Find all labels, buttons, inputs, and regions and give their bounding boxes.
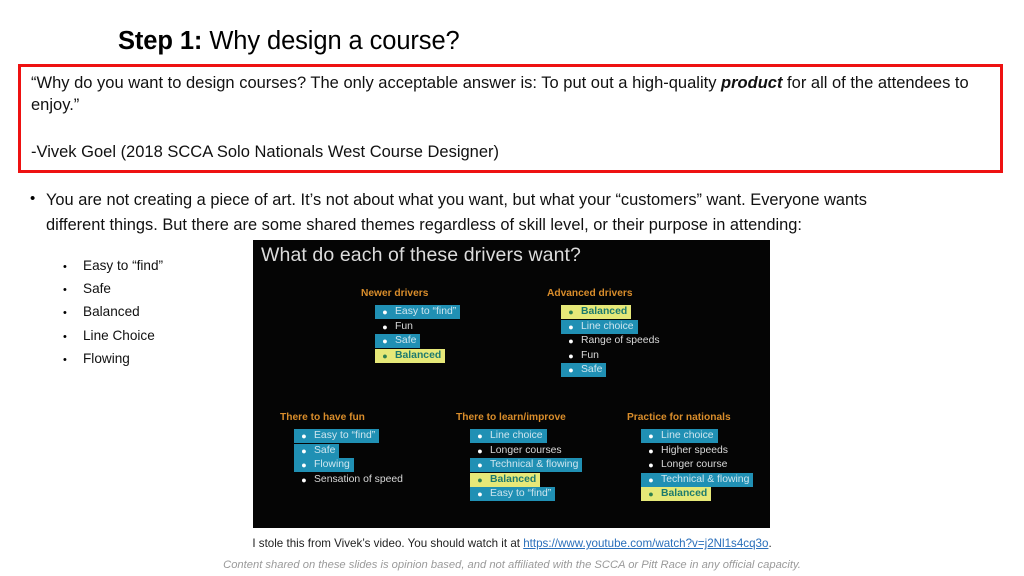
disclaimer-line: Content shared on these slides is opinio… [0, 559, 1024, 571]
drivers-item-label: Easy to “find” [395, 305, 460, 319]
drivers-bullet-icon: ● [294, 429, 314, 443]
drivers-column-advanced: Advanced drivers●Balanced●Line choice●Ra… [547, 288, 664, 378]
drivers-list-item: ●Safe [375, 334, 420, 348]
drivers-item-label: Technical & flowing [490, 458, 582, 472]
drivers-item-label: Easy to “find” [490, 487, 555, 501]
drivers-bullet-icon: ● [470, 487, 490, 501]
drivers-item-label: Flowing [314, 458, 354, 472]
drivers-item-label: Technical & flowing [661, 473, 753, 487]
sub-bullet-marker-icon: • [63, 261, 83, 273]
drivers-bullet-icon: ● [470, 444, 490, 458]
drivers-item-label: Line choice [581, 320, 638, 334]
drivers-list-item: ●Line choice [470, 429, 547, 443]
drivers-bullet-icon: ● [294, 458, 314, 472]
page-title-step: Step 1: [118, 27, 202, 55]
drivers-column-header: There to learn/improve [456, 412, 582, 423]
drivers-list-item: ●Line choice [561, 320, 638, 334]
drivers-item-label: Longer course [661, 458, 731, 472]
sub-bullet-item: •Flowing [63, 351, 263, 374]
drivers-item-label: Safe [395, 334, 420, 348]
embedded-slide-image: What do each of these drivers want? Newe… [253, 240, 770, 528]
drivers-bullet-icon: ● [294, 473, 314, 487]
quote-attribution: -Vivek Goel (2018 SCCA Solo Nationals We… [31, 142, 990, 163]
drivers-list-item: ●Balanced [641, 487, 711, 501]
drivers-list-item: ●Longer courses [470, 444, 566, 458]
drivers-bullet-icon: ● [375, 305, 395, 319]
page-title: Step 1: Why design a course? [118, 27, 460, 55]
drivers-list-item: ●Balanced [561, 305, 631, 319]
quote-box: “Why do you want to design courses? The … [18, 64, 1003, 173]
sub-bullet-label: Balanced [83, 304, 140, 320]
main-bullet: • You are not creating a piece of art. I… [30, 188, 910, 238]
drivers-item-label: Line choice [661, 429, 718, 443]
drivers-list-item: ●Safe [294, 444, 339, 458]
drivers-column-learn-improve: There to learn/improve●Line choice●Longe… [456, 412, 582, 502]
credit-text-post: . [768, 537, 771, 550]
sub-bullet-label: Line Choice [83, 328, 155, 344]
sub-bullet-label: Easy to “find” [83, 258, 163, 274]
drivers-bullet-icon: ● [375, 349, 395, 363]
drivers-bullet-icon: ● [641, 429, 661, 443]
drivers-bullet-icon: ● [641, 444, 661, 458]
youtube-link[interactable]: https://www.youtube.com/watch?v=j2Nl1s4c… [523, 537, 768, 550]
sub-bullet-item: •Easy to “find” [63, 258, 263, 281]
drivers-item-label: Longer courses [490, 444, 566, 458]
drivers-item-label: Balanced [490, 473, 540, 487]
drivers-bullet-icon: ● [470, 429, 490, 443]
embedded-slide-title: What do each of these drivers want? [261, 244, 581, 267]
drivers-list-item: ●Technical & flowing [641, 473, 753, 487]
drivers-bullet-icon: ● [294, 444, 314, 458]
drivers-bullet-icon: ● [470, 473, 490, 487]
drivers-item-label: Safe [581, 363, 606, 377]
sub-bullet-item: •Line Choice [63, 328, 263, 351]
quote-text-part1: “Why do you want to design courses? The … [31, 74, 721, 92]
drivers-item-label: Higher speeds [661, 444, 732, 458]
drivers-bullet-icon: ● [561, 363, 581, 377]
drivers-bullet-icon: ● [641, 487, 661, 501]
sub-bullet-item: •Balanced [63, 304, 263, 327]
drivers-bullet-icon: ● [561, 305, 581, 319]
bullet-marker-icon: • [30, 188, 46, 211]
drivers-item-label: Balanced [395, 349, 445, 363]
drivers-item-label: Fun [581, 349, 603, 363]
drivers-column-have-fun: There to have fun●Easy to “find”●Safe●Fl… [280, 412, 407, 487]
drivers-list-item: ●Easy to “find” [470, 487, 555, 501]
sub-bullet-marker-icon: • [63, 331, 83, 343]
page-title-rest: Why design a course? [202, 27, 459, 55]
drivers-column-header: Practice for nationals [627, 412, 753, 423]
drivers-item-label: Balanced [661, 487, 711, 501]
drivers-item-list: ●Easy to “find”●Safe●Flowing●Sensation o… [294, 429, 407, 487]
drivers-item-list: ●Balanced●Line choice●Range of speeds●Fu… [561, 305, 664, 377]
sub-bullet-marker-icon: • [63, 354, 83, 366]
drivers-item-list: ●Line choice●Higher speeds●Longer course… [641, 429, 753, 501]
sub-bullet-item: •Safe [63, 281, 263, 304]
quote-emphasis-product: product [721, 74, 782, 92]
drivers-column-header: Advanced drivers [547, 288, 664, 299]
drivers-bullet-icon: ● [375, 320, 395, 334]
credit-line: I stole this from Vivek’s video. You sho… [0, 537, 1024, 550]
drivers-list-item: ●Balanced [375, 349, 445, 363]
drivers-item-label: Sensation of speed [314, 473, 407, 487]
drivers-list-item: ●Flowing [294, 458, 354, 472]
drivers-item-label: Safe [314, 444, 339, 458]
drivers-list-item: ●Easy to “find” [294, 429, 379, 443]
drivers-list-item: ●Fun [375, 320, 417, 334]
drivers-item-label: Fun [395, 320, 417, 334]
drivers-column-newer: Newer drivers●Easy to “find”●Fun●Safe●Ba… [361, 288, 460, 363]
sub-bullet-label: Flowing [83, 351, 130, 367]
drivers-list-item: ●Line choice [641, 429, 718, 443]
drivers-bullet-icon: ● [641, 458, 661, 472]
drivers-bullet-icon: ● [470, 458, 490, 472]
drivers-list-item: ●Longer course [641, 458, 731, 472]
drivers-bullet-icon: ● [561, 320, 581, 334]
quote-text: “Why do you want to design courses? The … [31, 73, 990, 117]
drivers-bullet-icon: ● [375, 334, 395, 348]
sub-bullet-marker-icon: • [63, 284, 83, 296]
drivers-list-item: ●Sensation of speed [294, 473, 407, 487]
drivers-list-item: ●Range of speeds [561, 334, 664, 348]
drivers-item-label: Line choice [490, 429, 547, 443]
sub-bullet-marker-icon: • [63, 307, 83, 319]
drivers-column-header: Newer drivers [361, 288, 460, 299]
drivers-item-label: Range of speeds [581, 334, 664, 348]
drivers-list-item: ●Higher speeds [641, 444, 732, 458]
main-bullet-text: You are not creating a piece of art. It’… [46, 188, 910, 238]
sub-bullet-list: •Easy to “find”•Safe•Balanced•Line Choic… [63, 258, 263, 374]
drivers-list-item: ●Safe [561, 363, 606, 377]
credit-text-pre: I stole this from Vivek’s video. You sho… [252, 537, 523, 550]
drivers-item-label: Balanced [581, 305, 631, 319]
drivers-bullet-icon: ● [561, 334, 581, 348]
drivers-column-practice-nationals: Practice for nationals●Line choice●Highe… [627, 412, 753, 502]
drivers-item-list: ●Easy to “find”●Fun●Safe●Balanced [375, 305, 460, 363]
drivers-list-item: ●Easy to “find” [375, 305, 460, 319]
drivers-column-header: There to have fun [280, 412, 407, 423]
drivers-list-item: ●Fun [561, 349, 603, 363]
drivers-list-item: ●Technical & flowing [470, 458, 582, 472]
drivers-item-label: Easy to “find” [314, 429, 379, 443]
drivers-bullet-icon: ● [561, 349, 581, 363]
sub-bullet-label: Safe [83, 281, 111, 297]
drivers-bullet-icon: ● [641, 473, 661, 487]
drivers-list-item: ●Balanced [470, 473, 540, 487]
drivers-item-list: ●Line choice●Longer courses●Technical & … [470, 429, 582, 501]
